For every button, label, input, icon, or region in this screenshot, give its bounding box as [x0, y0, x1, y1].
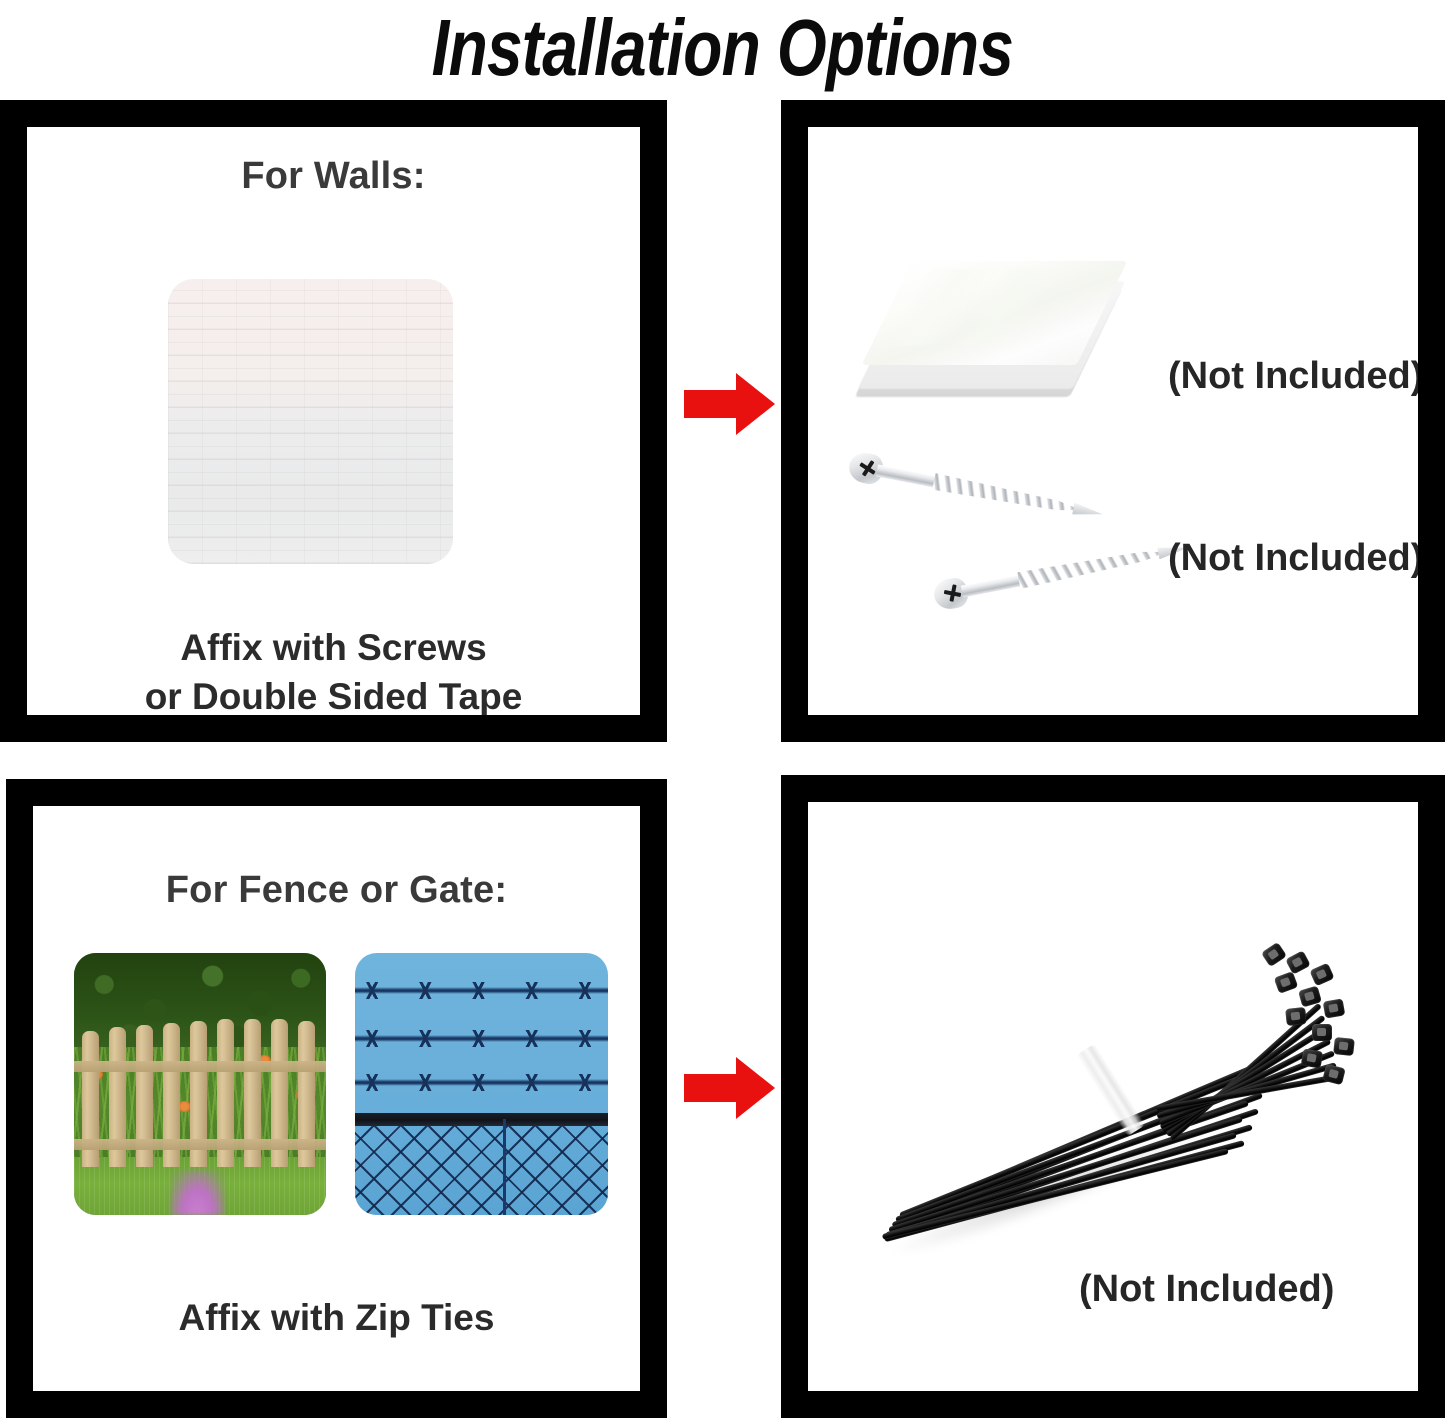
phillips-cross-lower [944, 590, 961, 597]
screw-tip-upper [1072, 503, 1104, 521]
barbed-wire-strand [355, 987, 608, 994]
for-walls-caption-line2: or Double Sided Tape [27, 672, 640, 715]
garden-path [170, 1170, 225, 1215]
wood-screw-lower-image [932, 532, 1195, 611]
zip-tie-head [1323, 998, 1346, 1018]
picket-fence-scene [74, 953, 326, 1215]
phillips-cross-upper [860, 462, 876, 474]
screws-not-included-label: (Not Included) [1168, 537, 1418, 580]
chain-link-fence-photo [355, 953, 608, 1215]
screw-thread-upper [932, 472, 1083, 520]
zip-tie-bundle-band [1076, 1043, 1146, 1136]
for-walls-caption: Affix with Screws or Double Sided Tape [27, 623, 640, 715]
red-right-arrow-icon-top [684, 371, 776, 437]
panel-for-walls-content: For Walls: Affix with Screws or Double S… [27, 127, 640, 715]
double-sided-tape-image [879, 255, 1111, 407]
for-walls-caption-line1: Affix with Screws [27, 623, 640, 672]
zip-tie-head [1333, 1037, 1355, 1056]
panel-wall-hardware: (Not Included) (Not Included) [781, 100, 1445, 742]
barbed-wire-strand [355, 1079, 608, 1086]
zip-ties-not-included-label: (Not Included) [1079, 1268, 1334, 1311]
panel-zip-ties: (Not Included) [781, 775, 1445, 1418]
screw-shank-lower [961, 574, 1024, 598]
chain-link-scene [355, 953, 608, 1215]
fence-rail-lower [74, 1139, 326, 1150]
zip-tie-head [1285, 1007, 1307, 1026]
zip-tie-head [1261, 942, 1287, 967]
zip-tie-head [1309, 963, 1334, 987]
zip-tie-head [1301, 1048, 1324, 1068]
page-title-bar: Installation Options [0, 0, 1445, 96]
panel-for-fence-or-gate-content: For Fence or Gate: [33, 806, 640, 1391]
for-fence-heading: For Fence or Gate: [33, 869, 640, 912]
fence-rail-upper [74, 1061, 326, 1072]
for-fence-caption: Affix with Zip Ties [33, 1293, 640, 1342]
panel-for-fence-or-gate: For Fence or Gate: [6, 779, 667, 1418]
page-title: Installation Options [432, 8, 1013, 88]
panel-zip-ties-content: (Not Included) [808, 802, 1418, 1391]
mesh-tie-post [503, 1119, 506, 1215]
white-brick-wall-image [168, 279, 453, 564]
screw-shank-upper [876, 464, 939, 488]
zip-tie-head [1274, 971, 1299, 994]
zip-tie-bundle-image [872, 932, 1372, 1302]
fence-top-rail [355, 1113, 608, 1126]
wooden-picket-fence-photo [74, 953, 326, 1215]
for-walls-heading: For Walls: [27, 155, 640, 198]
zip-tie-head [1312, 1024, 1332, 1041]
chain-link-mesh [355, 1126, 608, 1215]
barbed-wire-strand [355, 1035, 608, 1042]
panel-for-walls: For Walls: Affix with Screws or Double S… [0, 100, 667, 742]
screw-thread-lower [1017, 542, 1168, 590]
panel-wall-hardware-content: (Not Included) (Not Included) [808, 127, 1418, 715]
wood-screw-upper-image [847, 450, 1110, 529]
tape-not-included-label: (Not Included) [1168, 355, 1418, 398]
red-right-arrow-icon-bottom [684, 1055, 776, 1121]
